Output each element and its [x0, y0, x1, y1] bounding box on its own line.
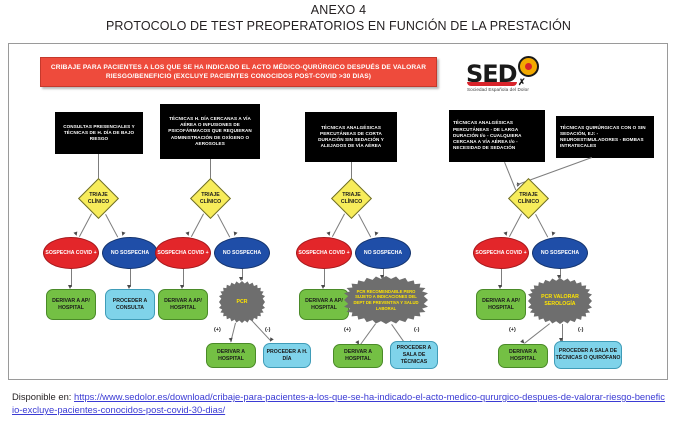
page-title: ANEXO 4 PROTOCOLO DE TEST PREOPERATORIOS…: [0, 3, 677, 34]
col2-test-outcome-refer: DERIVAR A HOSPITAL: [206, 343, 256, 368]
col4-test-outcome-refer: DERIVAR A HOSPITAL: [498, 344, 548, 368]
col2-test-outcome-proceed: PROCEDER A H. DÍA: [263, 343, 311, 368]
footer-source: Disponible en: https://www.sedolor.es/do…: [12, 390, 667, 416]
col2-label-positive: (+): [214, 327, 221, 333]
col4-label-positive: (+): [509, 327, 516, 333]
col4-outcome-refer: DERIVAR A AP/ HOSPITAL: [476, 289, 526, 320]
col1-source-box: CONSULTAS PRESENCIALES Y TÉCNICAS DE H. …: [55, 112, 143, 154]
title-protocol: PROTOCOLO DE TEST PREOPERATORIOS EN FUNC…: [0, 18, 677, 34]
col2-source-box: TÉCNICAS H. DÍA CERCANAS A VÍA AÉREA O I…: [160, 104, 260, 159]
col2-label-negative: (-): [265, 327, 270, 333]
footer-url-link[interactable]: https://www.sedolor.es/download/cribaje-…: [12, 391, 665, 415]
col4-triage-label: TRIAJE CLÍNICO: [508, 188, 549, 209]
banner-line-1: CRIBAJE PARA PACIENTES A LOS QUE SE HA I…: [51, 64, 345, 71]
col2-arrow-neg-test: [239, 277, 243, 281]
col4-no-suspect-node: NO SOSPECHA: [532, 237, 588, 269]
col2-suspect-node: SOSPECHA COVID +: [155, 237, 211, 269]
col2-no-suspect-node: NO SOSPECHA: [214, 237, 270, 269]
banner-screening: CRIBAJE PARA PACIENTES A LOS QUE SE HA I…: [40, 57, 437, 87]
flowchart-page: ANEXO 4 PROTOCOLO DE TEST PREOPERATORIOS…: [0, 0, 677, 429]
col1-suspect-node: SOSPECHA COVID +: [43, 237, 99, 269]
title-annex: ANEXO 4: [0, 3, 677, 18]
col4-source-text-b: TÉCNICAS QUIRÚRGICAS CON O SIN SEDACIÓN,…: [560, 125, 650, 150]
col4-source-box-a: TÉCNICAS ANALGÉSICAS PERCUTÁNEAS - DE LA…: [449, 110, 545, 162]
col2-arrow-test-pos: [229, 338, 234, 343]
sed-logo: SED ✗ Sociedad Española del Dolor: [466, 56, 576, 96]
col3-source-text: TÉCNICAS ANALGÉSICAS PERCUTÁNEAS DE CORT…: [309, 125, 393, 150]
col4-test-outcome-proceed: PROCEDER A SALA DE TÉCNICAS O QUIRÓFANO: [554, 341, 622, 369]
col3-source-box: TÉCNICAS ANALGÉSICAS PERCUTÁNEAS DE CORT…: [305, 112, 397, 162]
col1-source-text: CONSULTAS PRESENCIALES Y TÉCNICAS DE H. …: [59, 124, 139, 143]
banner-text: CRIBAJE PARA PACIENTES A LOS QUE SE HA I…: [41, 63, 436, 82]
logo-dot-icon: [525, 63, 532, 70]
col4-suspect-node: SOSPECHA COVID +: [473, 237, 529, 269]
col2-source-text: TÉCNICAS H. DÍA CERCANAS A VÍA AÉREA O I…: [164, 116, 256, 147]
logo-subtitle: Sociedad Española del Dolor: [467, 87, 529, 92]
col3-label-negative: (-): [414, 327, 419, 333]
col2-outcome-refer: DERIVAR A AP/ HOSPITAL: [158, 289, 208, 320]
col3-no-suspect-node: NO SOSPECHA: [355, 237, 411, 269]
col1-no-suspect-node: NO SOSPECHA: [102, 237, 158, 269]
col3-triage-label: TRIAJE CLÍNICO: [331, 188, 372, 209]
col3-suspect-node: SOSPECHA COVID +: [296, 237, 352, 269]
col1-outcome-proceed: PROCEDER A CONSULTA: [105, 289, 155, 320]
col3-outcome-refer: DERIVAR A AP/ HOSPITAL: [299, 289, 349, 320]
footer-label: Disponible en:: [12, 391, 71, 402]
col3-test-outcome-refer: DERIVAR A HOSPITAL: [333, 344, 383, 368]
col4-source-text-a: TÉCNICAS ANALGÉSICAS PERCUTÁNEAS - DE LA…: [453, 120, 541, 151]
col4-label-negative: (-): [578, 327, 583, 333]
col4-source-box-b: TÉCNICAS QUIRÚRGICAS CON O SIN SEDACIÓN,…: [556, 116, 654, 158]
col1-outcome-refer: DERIVAR A AP/ HOSPITAL: [46, 289, 96, 320]
col3-test-outcome-proceed: PROCEDER A SALA DE TÉCNICAS: [390, 341, 438, 369]
col3-label-positive: (+): [344, 327, 351, 333]
logo-circle-icon: [518, 56, 539, 77]
col2-triage-label: TRIAJE CLÍNICO: [190, 188, 231, 209]
logo-underline: [467, 82, 517, 86]
col1-triage-label: TRIAJE CLÍNICO: [78, 188, 119, 209]
